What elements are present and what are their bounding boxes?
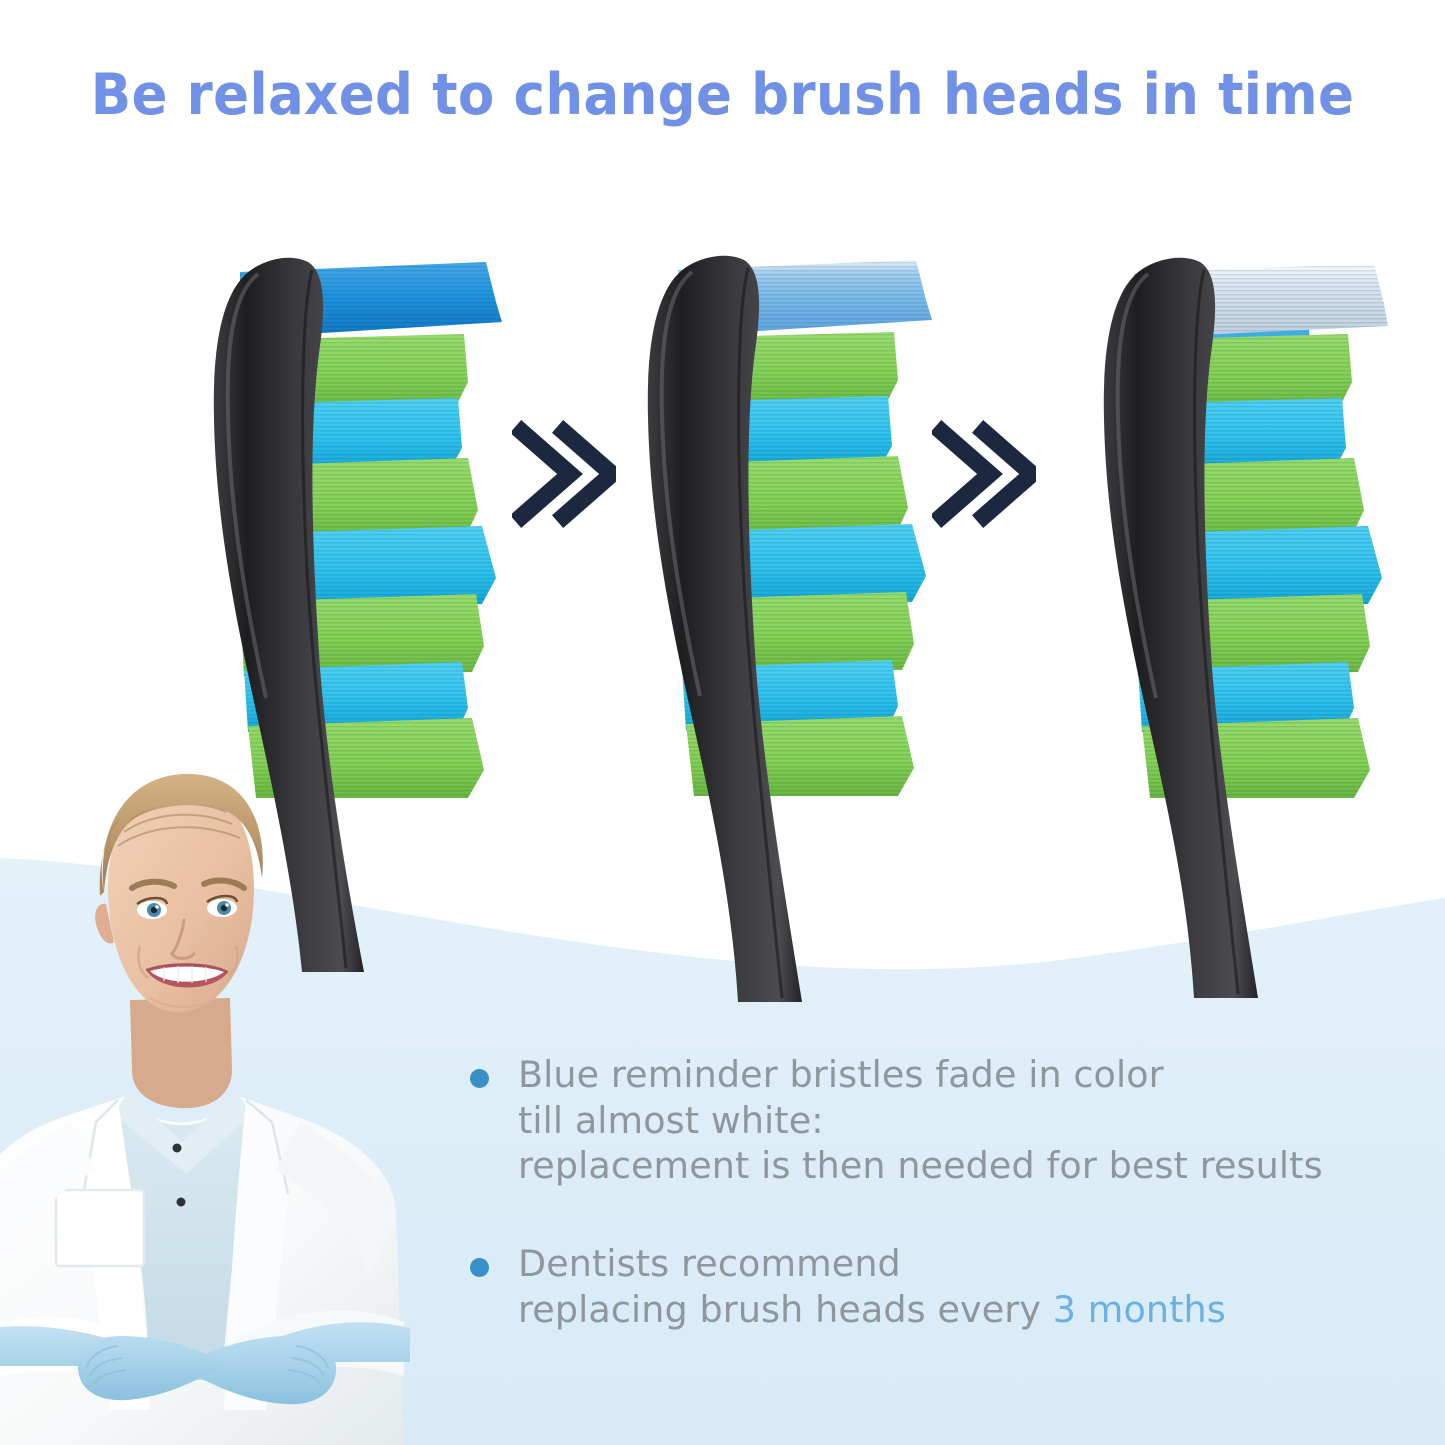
bullet-1-line-2: till almost white: xyxy=(518,1098,1436,1144)
brush-head-stage-3 xyxy=(1058,250,1438,1040)
bullet-dot-icon xyxy=(470,1258,489,1277)
list-item: Dentists recommend replacing brush heads… xyxy=(466,1241,1436,1332)
brush-head-stage-2 xyxy=(616,250,976,1040)
replacement-interval-highlight: 3 months xyxy=(1053,1288,1226,1331)
double-chevron-right-icon-1 xyxy=(512,418,616,530)
bullet-2-line-2-text: replacing brush heads every xyxy=(518,1288,1053,1331)
list-item: Blue reminder bristles fade in color til… xyxy=(466,1052,1436,1189)
bullet-2-line-1: Dentists recommend xyxy=(518,1241,1436,1287)
bullet-1-line-3: replacement is then needed for best resu… xyxy=(518,1143,1436,1189)
bullet-2-line-2: replacing brush heads every 3 months xyxy=(518,1287,1436,1333)
dentist-portrait xyxy=(0,770,440,1445)
bullet-1-line-1: Blue reminder bristles fade in color xyxy=(518,1052,1436,1098)
benefits-list: Blue reminder bristles fade in color til… xyxy=(466,1052,1436,1384)
bullet-dot-icon xyxy=(470,1069,489,1088)
double-chevron-right-icon-2 xyxy=(932,418,1036,530)
page-title: Be relaxed to change brush heads in time xyxy=(51,62,1395,128)
infographic-canvas: Be relaxed to change brush heads in time xyxy=(0,0,1445,1445)
